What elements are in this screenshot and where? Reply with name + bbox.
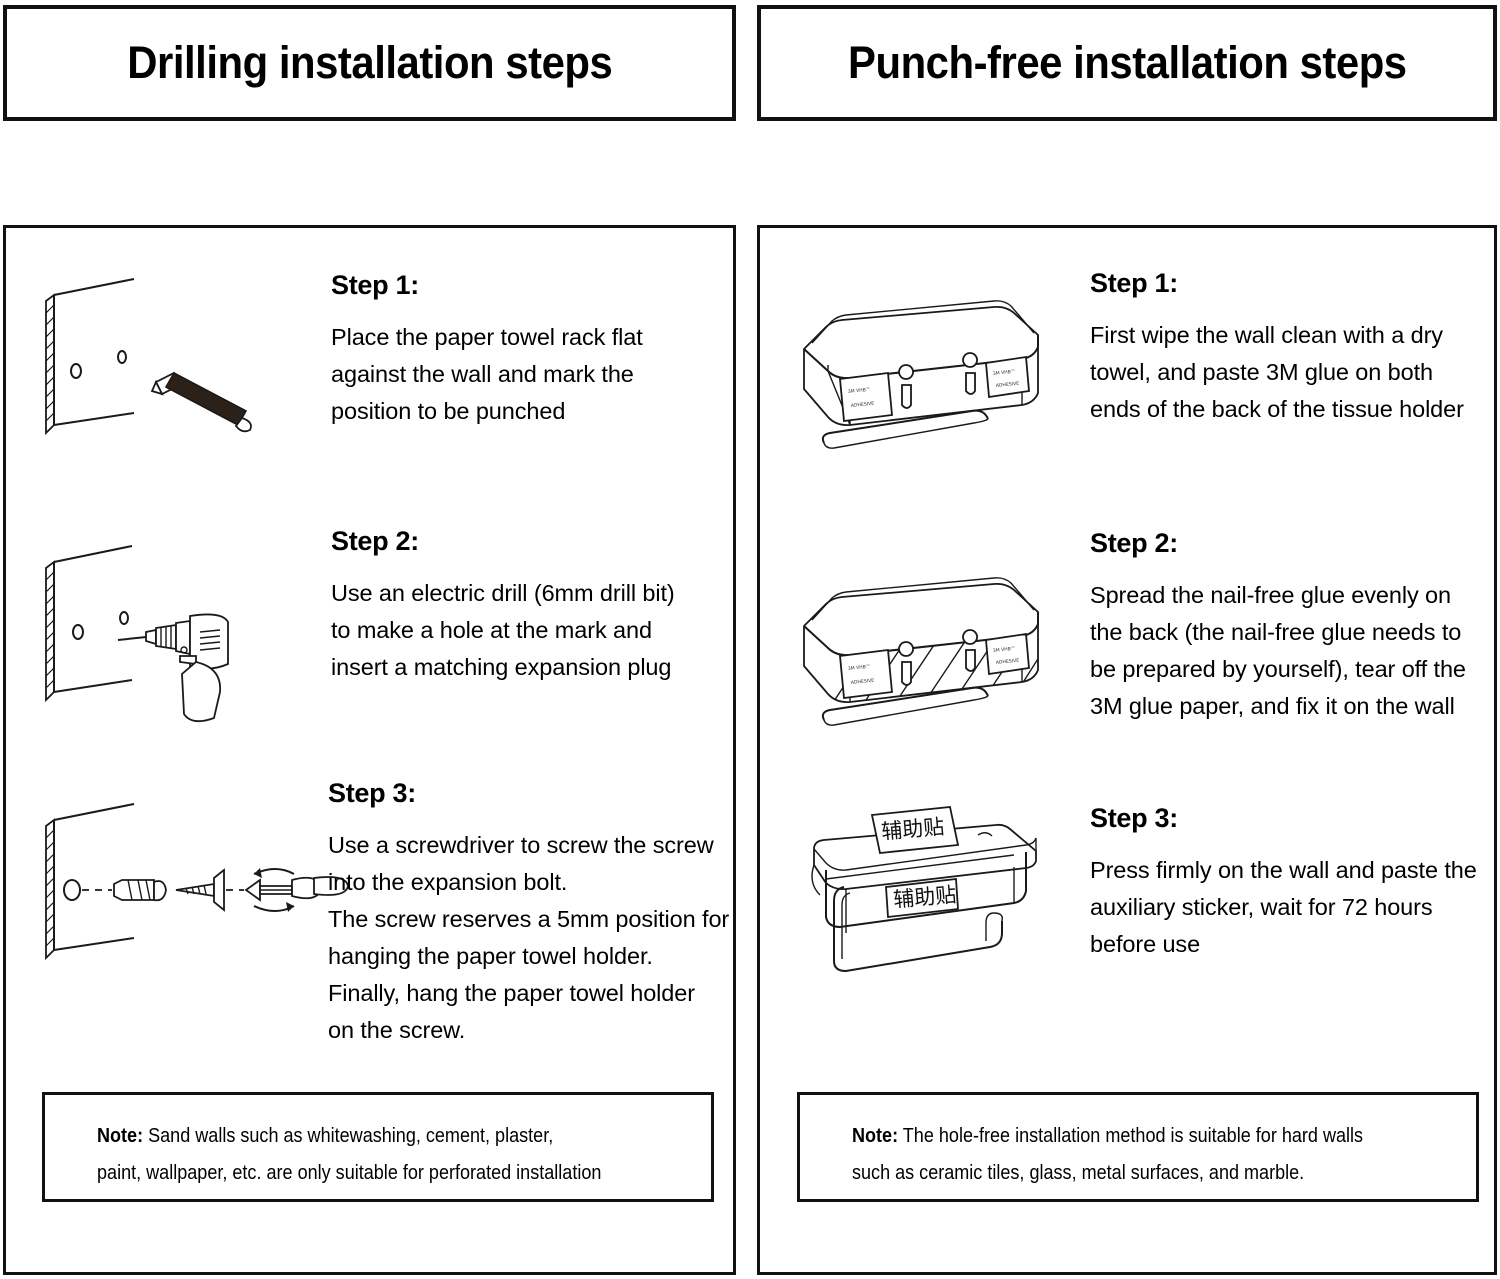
step-body: First wipe the wall clean with a dry tow… bbox=[1090, 317, 1464, 428]
note-text: Note: Sand walls such as whitewashing, c… bbox=[97, 1117, 637, 1191]
note-line-2: paint, wallpaper, etc. are only suitable… bbox=[97, 1154, 637, 1191]
step-heading: Step 2: bbox=[331, 526, 675, 557]
wall-drilled-hole bbox=[64, 880, 80, 900]
expansion-plug bbox=[114, 880, 166, 900]
electric-drill bbox=[118, 614, 228, 721]
note-line-1: The hole-free installation method is sui… bbox=[898, 1124, 1363, 1147]
step-body: Press firmly on the wall and paste the a… bbox=[1090, 852, 1477, 963]
note-label: Note: bbox=[852, 1124, 898, 1147]
figure-wall-with-pencil bbox=[28, 273, 348, 473]
keyhole-slot-right bbox=[963, 630, 977, 671]
wall-edge bbox=[46, 562, 54, 700]
step-body: Spread the nail-free glue evenly on the … bbox=[1090, 577, 1466, 725]
header-punch-free: Punch-free installation steps bbox=[757, 5, 1497, 121]
instruction-sheet: Drilling installation steps Punch-free i… bbox=[0, 0, 1500, 1279]
glue-pad-3m-left: 3M VHB™ ADHESIVE bbox=[840, 650, 892, 698]
step-body: Place the paper towel rack flat against … bbox=[331, 319, 643, 430]
figure-tissue-holder-back-hatched-glue: 3M VHB™ ADHESIVE 3M VHB™ ADHESIVE bbox=[788, 570, 1088, 745]
figure-wall-with-electric-drill bbox=[28, 540, 358, 740]
step-text-right-1: Step 1: First wipe the wall clean with a… bbox=[1090, 268, 1464, 428]
step-text-left-1: Step 1: Place the paper towel rack flat … bbox=[331, 270, 643, 430]
header-punch-free-title: Punch-free installation steps bbox=[848, 37, 1407, 89]
wall-edge bbox=[46, 820, 54, 958]
figure-wall-plug-screw-screwdriver bbox=[28, 798, 348, 988]
step-text-left-2: Step 2: Use an electric drill (6mm drill… bbox=[331, 526, 675, 686]
glue-pad-3m-right: 3M VHB™ ADHESIVE bbox=[986, 357, 1029, 397]
note-box-punch-free: Note: The hole-free installation method … bbox=[797, 1092, 1479, 1202]
note-text: Note: The hole-free installation method … bbox=[852, 1117, 1401, 1191]
pencil bbox=[152, 373, 251, 431]
note-line-1: Sand walls such as whitewashing, cement,… bbox=[143, 1124, 553, 1147]
header-drilling: Drilling installation steps bbox=[3, 5, 736, 121]
step-heading: Step 2: bbox=[1090, 528, 1466, 559]
step-heading: Step 3: bbox=[1090, 803, 1477, 834]
step-text-right-2: Step 2: Spread the nail-free glue evenly… bbox=[1090, 528, 1466, 725]
wall-face-edges bbox=[54, 804, 134, 950]
screw bbox=[176, 870, 224, 910]
step-heading: Step 1: bbox=[1090, 268, 1464, 299]
keyhole-slot-left bbox=[899, 365, 913, 408]
wall-mark-2 bbox=[120, 612, 128, 624]
wall-edge bbox=[46, 295, 54, 433]
step-heading: Step 3: bbox=[328, 778, 729, 809]
step-body: Use a screwdriver to screw the screw int… bbox=[328, 827, 729, 1049]
glue-pad-3m-right: 3M VHB™ ADHESIVE bbox=[986, 634, 1029, 674]
figure-tissue-holder-with-auxiliary-stickers: 辅助贴 辅助贴 bbox=[800, 813, 1080, 988]
wall-mark-1 bbox=[71, 364, 81, 378]
glue-pad-3m-left: 3M VHB™ ADHESIVE bbox=[840, 373, 892, 421]
auxiliary-sticker-top: 辅助贴 bbox=[872, 807, 958, 853]
keyhole-slot-left bbox=[899, 642, 913, 685]
wall-mark-1 bbox=[73, 625, 83, 639]
figure-tissue-holder-back-with-3m-pads: 3M VHB™ ADHESIVE 3M VHB™ ADHESIVE bbox=[788, 293, 1088, 473]
header-drilling-title: Drilling installation steps bbox=[127, 37, 612, 89]
keyhole-slot-right bbox=[963, 353, 977, 394]
note-box-drilling: Note: Sand walls such as whitewashing, c… bbox=[42, 1092, 714, 1202]
step-heading: Step 1: bbox=[331, 270, 643, 301]
note-label: Note: bbox=[97, 1124, 143, 1147]
step-text-left-3: Step 3: Use a screwdriver to screw the s… bbox=[328, 778, 729, 1049]
note-line-2: such as ceramic tiles, glass, metal surf… bbox=[852, 1154, 1401, 1191]
step-body: Use an electric drill (6mm drill bit) to… bbox=[331, 575, 675, 686]
wall-mark-2 bbox=[118, 351, 126, 363]
step-text-right-3: Step 3: Press firmly on the wall and pas… bbox=[1090, 803, 1477, 963]
